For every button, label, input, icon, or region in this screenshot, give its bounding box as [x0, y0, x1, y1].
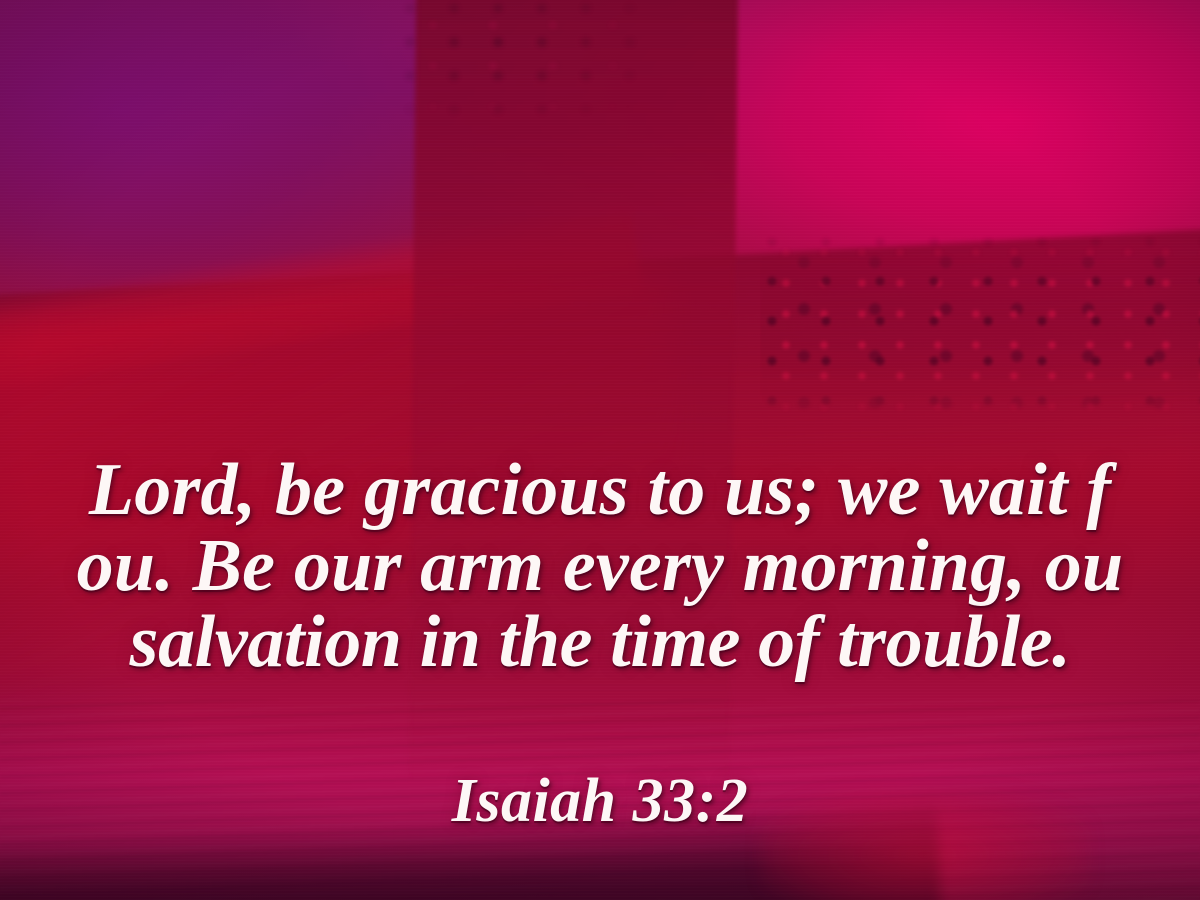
- verse-line-1: Lord, be gracious to us; we wait f: [0, 452, 1200, 528]
- verse-image-canvas: Lord, be gracious to us; we wait f ou. B…: [0, 0, 1200, 900]
- verse-line-2: ou. Be our arm every morning, ou: [0, 528, 1200, 604]
- verse-line-3: salvation in the time of trouble.: [0, 604, 1200, 680]
- verse-overlay: Lord, be gracious to us; we wait f ou. B…: [0, 0, 1200, 900]
- verse-text-block: Lord, be gracious to us; we wait f ou. B…: [0, 452, 1200, 681]
- verse-reference: Isaiah 33:2: [0, 770, 1200, 832]
